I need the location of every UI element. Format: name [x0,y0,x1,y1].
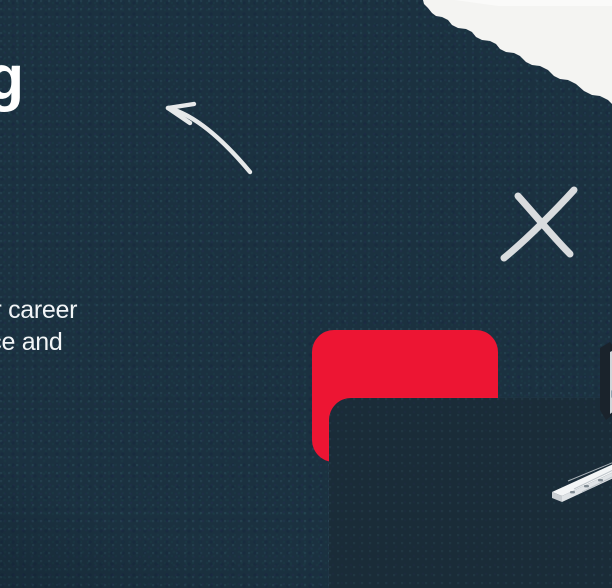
hero-banner: eting d w to take your career d expert a… [0,0,612,588]
body-copy: w to take your career d expert advice an… [0,294,77,390]
body-copy-line: the web. [0,358,77,390]
page-title: eting [0,48,23,110]
hand-drawn-x-icon [492,180,588,272]
body-copy-line: d expert advice and [0,326,77,358]
keyboard-illustration [540,448,612,534]
torn-paper-edge [378,0,612,116]
hand-drawn-arrow-icon [158,92,268,178]
body-copy-line: w to take your career [0,294,77,326]
edge-object-icon [596,338,612,456]
